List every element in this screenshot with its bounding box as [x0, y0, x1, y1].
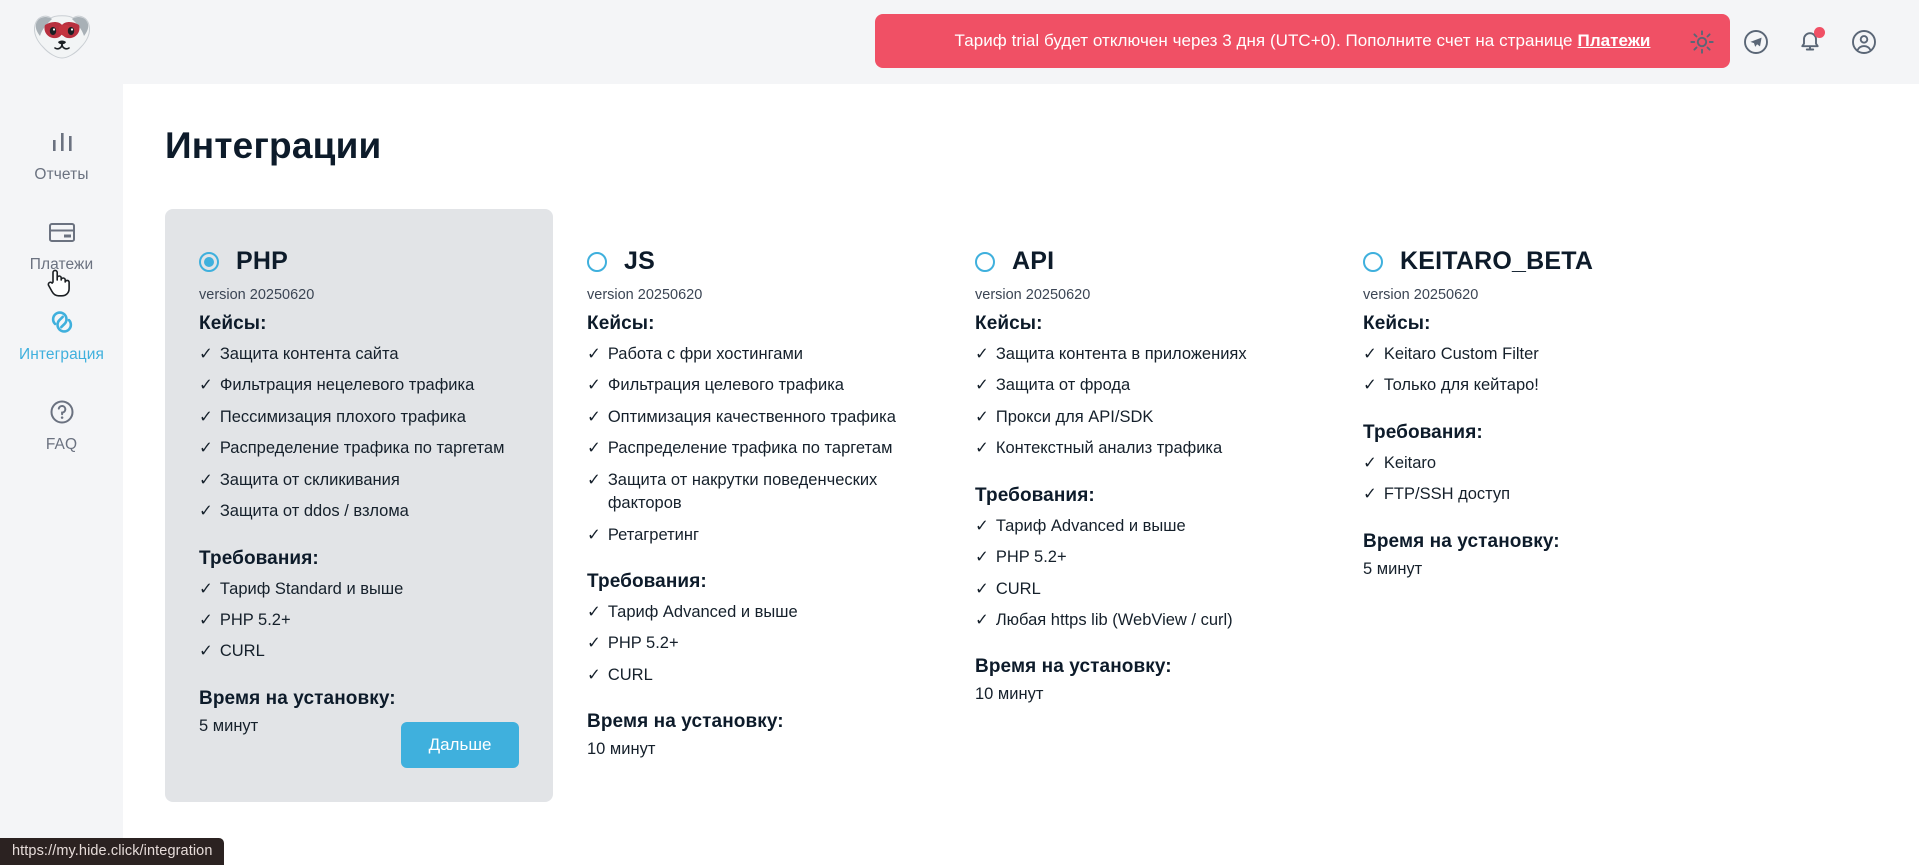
feature-label: CURL — [996, 578, 1041, 601]
feature-label: Keitaro Custom Filter — [1384, 343, 1539, 366]
feature-label: Работа с фри хостингами — [608, 343, 803, 366]
feature-label: Защита от фрода — [996, 374, 1130, 397]
install-time-value: 5 минут — [1363, 560, 1683, 579]
feature-label: Только для кейтаро! — [1384, 374, 1539, 397]
raccoon-logo-icon — [31, 11, 93, 63]
check-icon: ✓ — [975, 578, 989, 601]
check-icon: ✓ — [975, 609, 989, 632]
section-heading-install-time: Время на установку: — [1363, 531, 1683, 553]
feature-label: FTP/SSH доступ — [1384, 483, 1510, 506]
feature-item: ✓PHP 5.2+ — [975, 546, 1295, 569]
feature-item: ✓Защита от фрода — [975, 374, 1295, 397]
feature-item: ✓CURL — [975, 578, 1295, 601]
feature-label: Защита от скликивания — [220, 469, 400, 492]
check-icon: ✓ — [587, 524, 601, 547]
top-header: Тариф trial будет отключен через 3 дня (… — [123, 0, 1919, 84]
next-button[interactable]: Дальше — [401, 722, 519, 768]
feature-item: ✓Распределение трафика по таргетам — [199, 437, 519, 460]
feature-label: Контекстный анализ трафика — [996, 437, 1222, 460]
page-title: Интеграции — [165, 125, 1919, 167]
feature-item: ✓Контекстный анализ трафика — [975, 437, 1295, 460]
card-title: API — [1012, 247, 1054, 276]
status-bar-url: https://my.hide.click/integration — [0, 838, 224, 865]
integration-card[interactable]: APIversion 20250620Кейсы:✓Защита контент… — [941, 209, 1329, 738]
sidebar-item-label: Интеграция — [19, 346, 104, 364]
check-icon: ✓ — [199, 437, 213, 460]
check-icon: ✓ — [199, 469, 213, 492]
feature-label: Защита от накрутки поведенческих факторо… — [608, 469, 907, 516]
feature-item: ✓Защита от ddos / взлома — [199, 500, 519, 523]
card-version: version 20250620 — [1363, 287, 1683, 303]
feature-item: ✓Фильтрация целевого трафика — [587, 374, 907, 397]
app-root: Отчеты Платежи — [0, 0, 1919, 865]
feature-item: ✓Фильтрация нецелевого трафика — [199, 374, 519, 397]
sidebar-nav: Отчеты Платежи — [0, 109, 123, 469]
section-heading-requirements: Требования: — [199, 548, 519, 570]
card-version: version 20250620 — [975, 287, 1295, 303]
install-time-value: 10 минут — [587, 740, 907, 759]
feature-item: ✓Защита от скликивания — [199, 469, 519, 492]
section-heading-cases: Кейсы: — [199, 313, 519, 335]
feature-item: ✓Защита контента сайта — [199, 343, 519, 366]
check-icon: ✓ — [199, 374, 213, 397]
feature-label: Защита контента в приложениях — [996, 343, 1247, 366]
check-icon: ✓ — [1363, 452, 1377, 475]
check-icon: ✓ — [199, 578, 213, 601]
integration-cards: PHPversion 20250620Кейсы:✓Защита контент… — [165, 209, 1919, 802]
feature-label: Фильтрация целевого трафика — [608, 374, 844, 397]
section-heading-cases: Кейсы: — [1363, 313, 1683, 335]
user-circle-icon[interactable] — [1851, 29, 1877, 55]
feature-item: ✓Распределение трафика по таргетам — [587, 437, 907, 460]
check-icon: ✓ — [975, 437, 989, 460]
feature-label: Тариф Standard и выше — [220, 578, 403, 601]
sidebar: Отчеты Платежи — [0, 0, 123, 865]
sun-icon[interactable] — [1689, 29, 1715, 55]
integration-card[interactable]: KEITARO_BETAversion 20250620Кейсы:✓Keita… — [1329, 209, 1717, 613]
feature-label: PHP 5.2+ — [220, 609, 291, 632]
card-version: version 20250620 — [587, 287, 907, 303]
feature-label: CURL — [608, 664, 653, 687]
feature-label: Прокси для API/SDK — [996, 406, 1154, 429]
telegram-icon[interactable] — [1743, 29, 1769, 55]
trial-alert-banner[interactable]: Тариф trial будет отключен через 3 дня (… — [875, 14, 1730, 68]
check-icon: ✓ — [199, 343, 213, 366]
check-icon: ✓ — [587, 343, 601, 366]
feature-item: ✓Ретагретинг — [587, 524, 907, 547]
feature-item: ✓CURL — [199, 640, 519, 663]
feature-item: ✓CURL — [587, 664, 907, 687]
check-icon: ✓ — [587, 469, 601, 516]
card-title: PHP — [236, 247, 288, 276]
feature-label: Фильтрация нецелевого трафика — [220, 374, 474, 397]
section-heading-install-time: Время на установку: — [199, 688, 519, 710]
feature-label: PHP 5.2+ — [996, 546, 1067, 569]
card-header: API — [975, 247, 1295, 276]
check-icon: ✓ — [587, 664, 601, 687]
section-heading-requirements: Требования: — [1363, 422, 1683, 444]
feature-label: Защита контента сайта — [220, 343, 399, 366]
alert-text: Тариф trial будет отключен через 3 дня (… — [955, 31, 1573, 51]
section-heading-requirements: Требования: — [587, 571, 907, 593]
feature-item: ✓PHP 5.2+ — [587, 632, 907, 655]
check-icon: ✓ — [199, 406, 213, 429]
feature-item: ✓Работа с фри хостингами — [587, 343, 907, 366]
card-header: PHP — [199, 247, 519, 276]
check-icon: ✓ — [199, 500, 213, 523]
integration-card[interactable]: JSversion 20250620Кейсы:✓Работа с фри хо… — [553, 209, 941, 793]
check-icon: ✓ — [975, 515, 989, 538]
check-icon: ✓ — [587, 601, 601, 624]
sidebar-item-label: FAQ — [46, 436, 77, 454]
check-icon: ✓ — [975, 343, 989, 366]
app-logo[interactable] — [31, 11, 93, 63]
check-icon: ✓ — [975, 546, 989, 569]
feature-item: ✓Оптимизация качественного трафика — [587, 406, 907, 429]
notification-dot — [1814, 27, 1825, 38]
sidebar-item-faq[interactable]: FAQ — [0, 379, 123, 469]
section-heading-install-time: Время на установку: — [975, 656, 1295, 678]
sidebar-item-integration[interactable]: Интеграция — [0, 289, 123, 379]
check-icon: ✓ — [975, 406, 989, 429]
check-icon: ✓ — [587, 374, 601, 397]
sidebar-item-reports[interactable]: Отчеты — [0, 109, 123, 199]
feature-label: Keitaro — [1384, 452, 1436, 475]
section-heading-cases: Кейсы: — [587, 313, 907, 335]
check-icon: ✓ — [587, 437, 601, 460]
feature-label: Пессимизация плохого трафика — [220, 406, 466, 429]
card-header: JS — [587, 247, 907, 276]
card-version: version 20250620 — [199, 287, 519, 303]
section-heading-cases: Кейсы: — [975, 313, 1295, 335]
feature-label: Любая https lib (WebView / curl) — [996, 609, 1233, 632]
feature-label: Распределение трафика по таргетам — [608, 437, 893, 460]
feature-item: ✓Тариф Advanced и выше — [975, 515, 1295, 538]
sidebar-item-label: Платежи — [30, 256, 94, 274]
check-icon: ✓ — [975, 374, 989, 397]
feature-item: ✓Прокси для API/SDK — [975, 406, 1295, 429]
alert-payments-link[interactable]: Платежи — [1578, 31, 1651, 51]
feature-item: ✓Пессимизация плохого трафика — [199, 406, 519, 429]
integration-card[interactable]: PHPversion 20250620Кейсы:✓Защита контент… — [165, 209, 553, 802]
feature-label: Распределение трафика по таргетам — [220, 437, 505, 460]
feature-label: Тариф Advanced и выше — [996, 515, 1186, 538]
feature-item: ✓Защита от накрутки поведенческих фактор… — [587, 469, 907, 516]
bar-chart-icon — [45, 125, 79, 159]
feature-item: ✓Keitaro Custom Filter — [1363, 343, 1683, 366]
radio-button-icon[interactable] — [1363, 252, 1383, 272]
feature-item: ✓Любая https lib (WebView / curl) — [975, 609, 1295, 632]
radio-button-icon[interactable] — [199, 252, 219, 272]
sidebar-item-payments[interactable]: Платежи — [0, 199, 123, 289]
sidebar-item-label: Отчеты — [34, 166, 88, 184]
feature-item: ✓Тариф Advanced и выше — [587, 601, 907, 624]
question-circle-icon — [45, 395, 79, 429]
feature-label: Ретагретинг — [608, 524, 699, 547]
feature-label: Защита от ddos / взлома — [220, 500, 409, 523]
feature-label: PHP 5.2+ — [608, 632, 679, 655]
check-icon: ✓ — [199, 640, 213, 663]
feature-item: ✓Тариф Standard и выше — [199, 578, 519, 601]
check-icon: ✓ — [1363, 374, 1377, 397]
check-icon: ✓ — [199, 609, 213, 632]
check-icon: ✓ — [1363, 343, 1377, 366]
card-header: KEITARO_BETA — [1363, 247, 1683, 276]
credit-card-icon — [45, 215, 79, 249]
feature-item: ✓FTP/SSH доступ — [1363, 483, 1683, 506]
card-title: JS — [624, 247, 655, 276]
card-title: KEITARO_BETA — [1400, 247, 1593, 276]
check-icon: ✓ — [587, 632, 601, 655]
feature-item: ✓PHP 5.2+ — [199, 609, 519, 632]
feature-item: ✓Только для кейтаро! — [1363, 374, 1683, 397]
main-content: Интеграции PHPversion 20250620Кейсы:✓Защ… — [123, 84, 1919, 865]
install-time-value: 10 минут — [975, 685, 1295, 704]
check-icon: ✓ — [587, 406, 601, 429]
check-icon: ✓ — [1363, 483, 1377, 506]
feature-label: Тариф Advanced и выше — [608, 601, 798, 624]
radio-button-icon[interactable] — [587, 252, 607, 272]
feature-label: Оптимизация качественного трафика — [608, 406, 896, 429]
radio-button-icon[interactable] — [975, 252, 995, 272]
feature-item: ✓Keitaro — [1363, 452, 1683, 475]
bell-icon[interactable] — [1797, 29, 1823, 55]
link-icon — [45, 305, 79, 339]
feature-label: CURL — [220, 640, 265, 663]
section-heading-install-time: Время на установку: — [587, 711, 907, 733]
feature-item: ✓Защита контента в приложениях — [975, 343, 1295, 366]
section-heading-requirements: Требования: — [975, 485, 1295, 507]
